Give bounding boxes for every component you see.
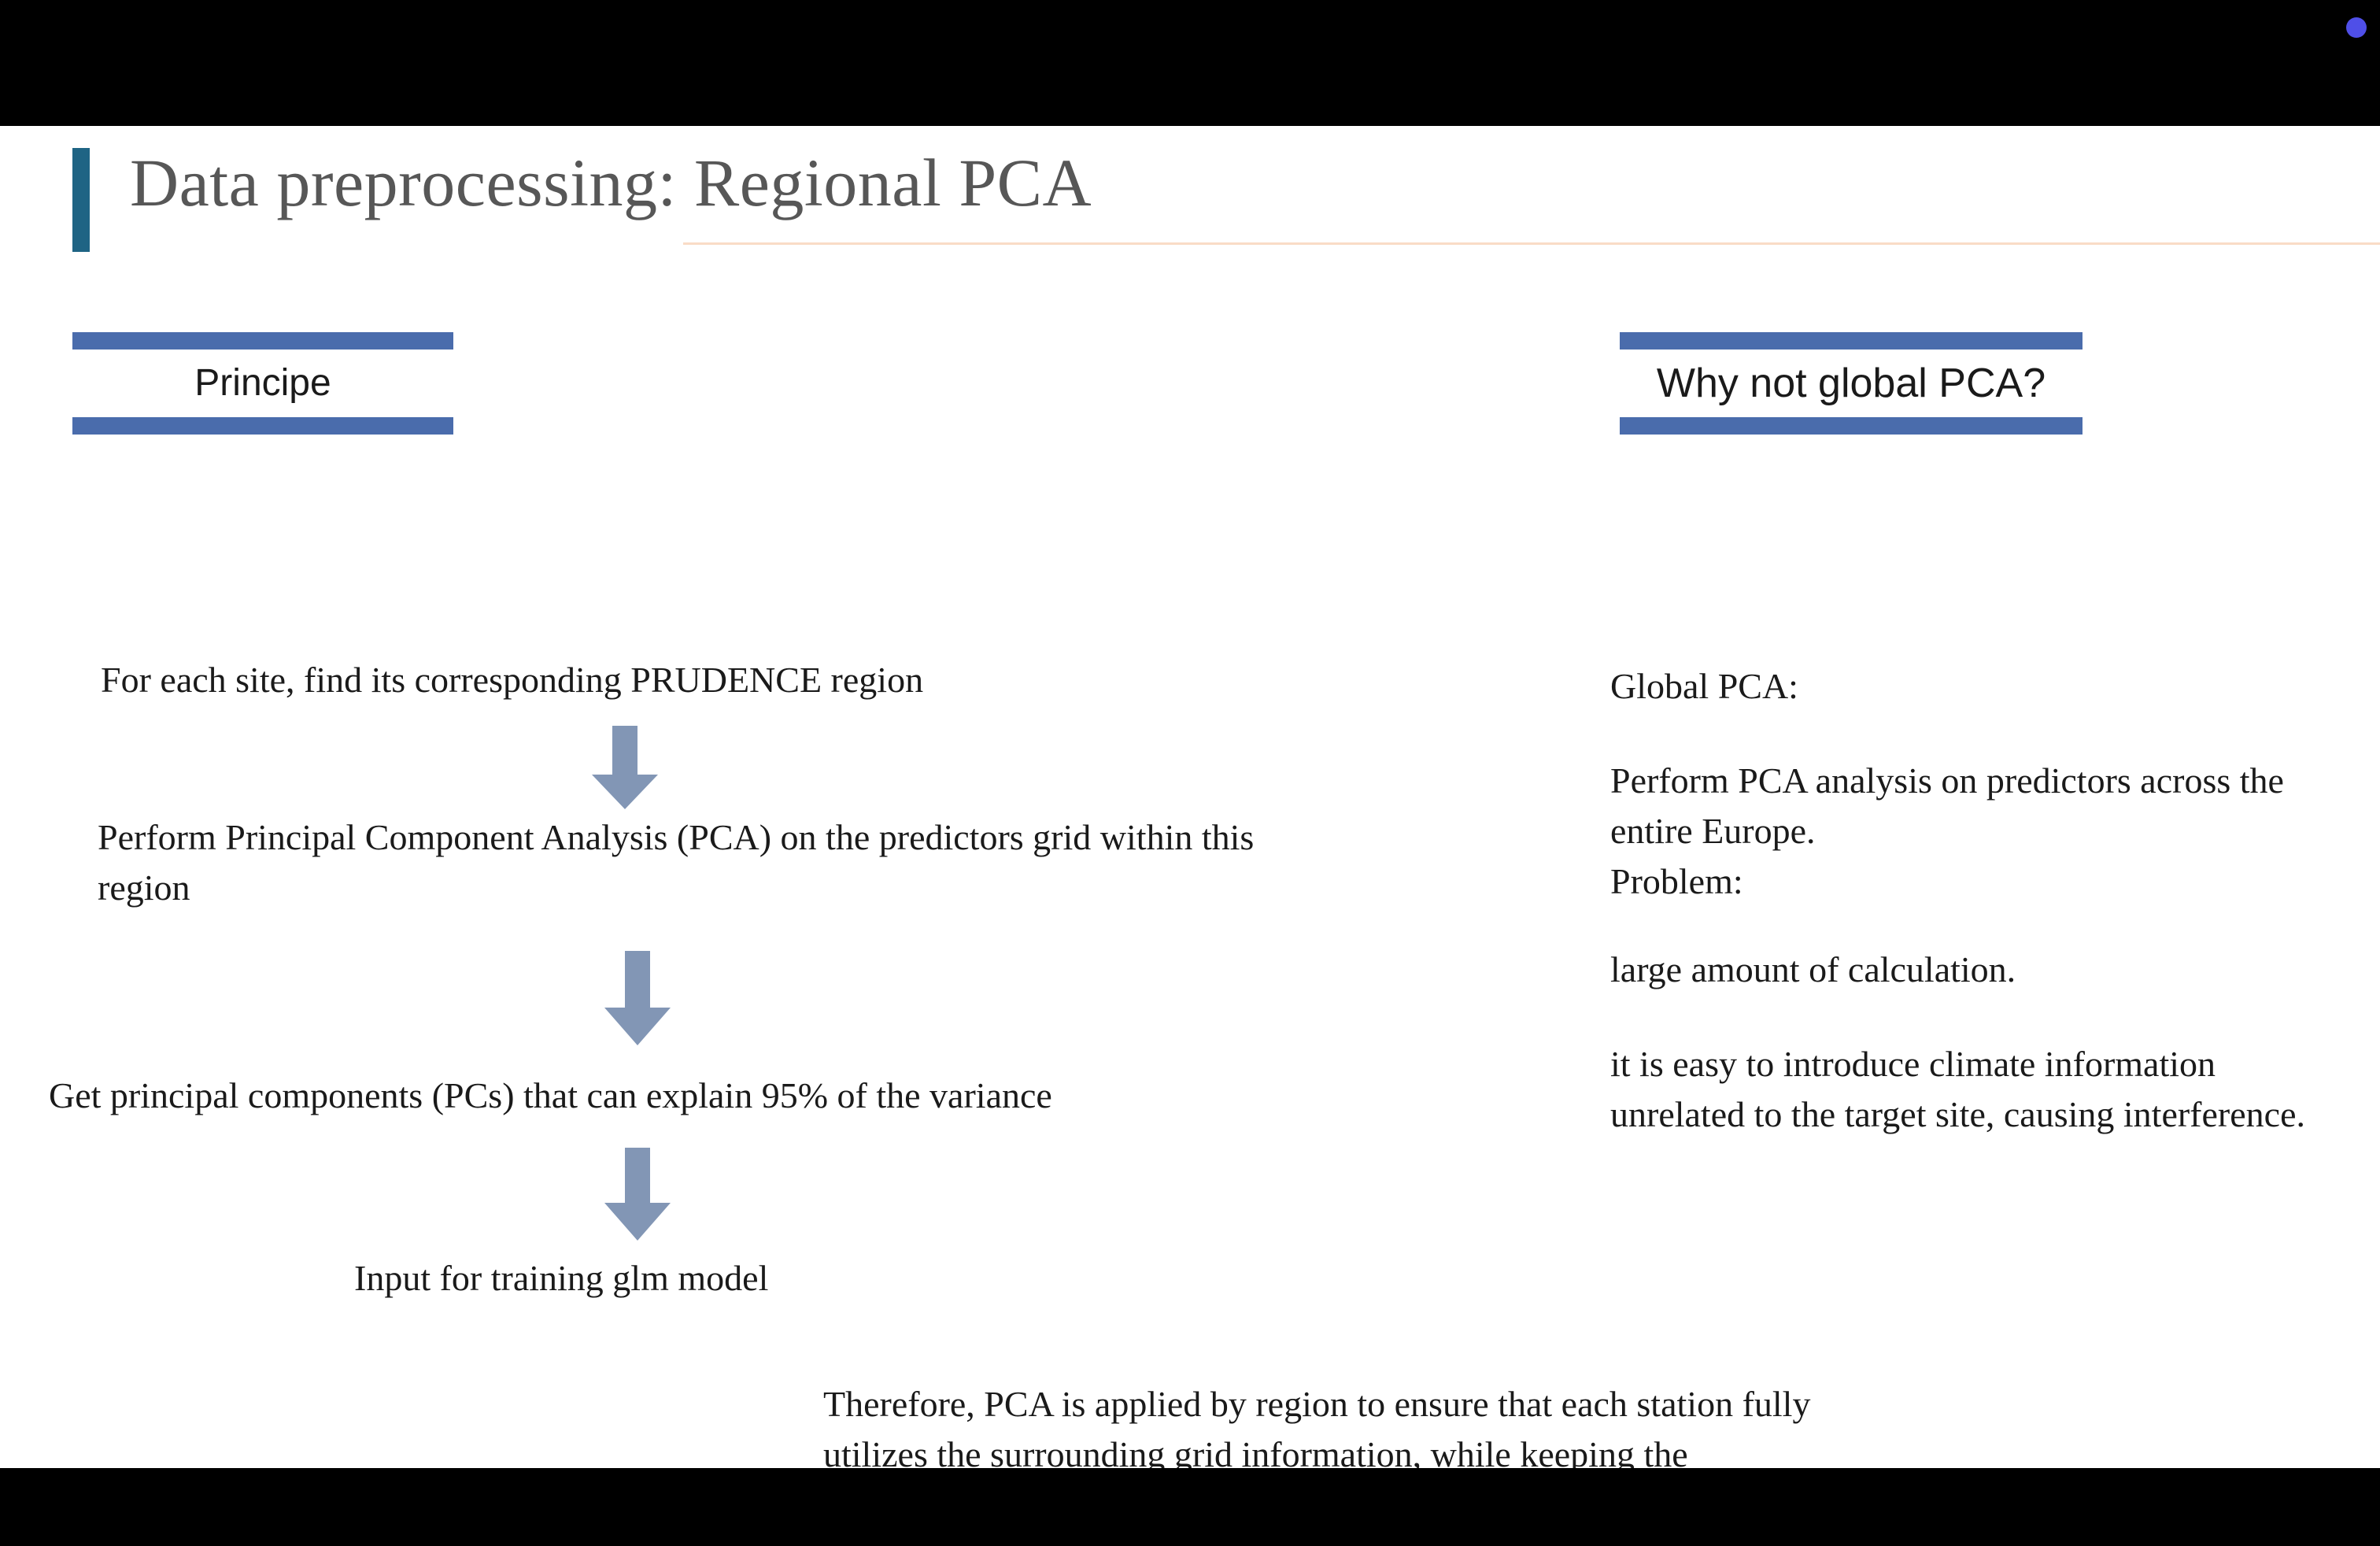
global-pca-description: Perform PCA analysis on predictors acros… bbox=[1610, 756, 2319, 907]
banner-bar-bottom bbox=[1620, 417, 2082, 435]
letterbox-bottom-bar bbox=[0, 1468, 2380, 1546]
problem-reason-interference: it is easy to introduce climate informat… bbox=[1610, 1039, 2334, 1140]
slide-root: Data preprocessing: Regional PCA Princip… bbox=[0, 0, 2380, 1546]
recording-indicator-dot bbox=[2346, 17, 2367, 38]
banner-bar-top bbox=[1620, 332, 2082, 350]
flow-step-input-glm: Input for training glm model bbox=[354, 1253, 1062, 1304]
problem-reason-calculation: large amount of calculation. bbox=[1610, 945, 2319, 995]
page-title: Data preprocessing: Regional PCA bbox=[130, 143, 1092, 222]
letterbox-top-bar bbox=[0, 0, 2380, 126]
flow-step-get-components: Get principal components (PCs) that can … bbox=[49, 1071, 1277, 1121]
global-pca-label: Global PCA: bbox=[1610, 661, 2319, 712]
global-pca-header-banner: Why not global PCA? bbox=[1620, 332, 2082, 435]
title-accent-bar bbox=[72, 148, 90, 252]
principe-header-label: Principe bbox=[72, 350, 453, 417]
title-underline-rule bbox=[683, 242, 2380, 245]
global-pca-header-label: Why not global PCA? bbox=[1620, 350, 2082, 417]
banner-bar-bottom bbox=[72, 417, 453, 435]
flow-step-perform-pca: Perform Principal Component Analysis (PC… bbox=[98, 812, 1294, 913]
down-arrow-icon bbox=[604, 1148, 671, 1241]
down-arrow-icon bbox=[592, 726, 658, 809]
banner-bar-top bbox=[72, 332, 453, 350]
slide-canvas: Data preprocessing: Regional PCA Princip… bbox=[0, 126, 2380, 1468]
flow-step-find-region: For each site, find its corresponding PR… bbox=[101, 655, 1203, 705]
principe-header-banner: Principe bbox=[72, 332, 453, 435]
down-arrow-icon bbox=[604, 951, 671, 1045]
